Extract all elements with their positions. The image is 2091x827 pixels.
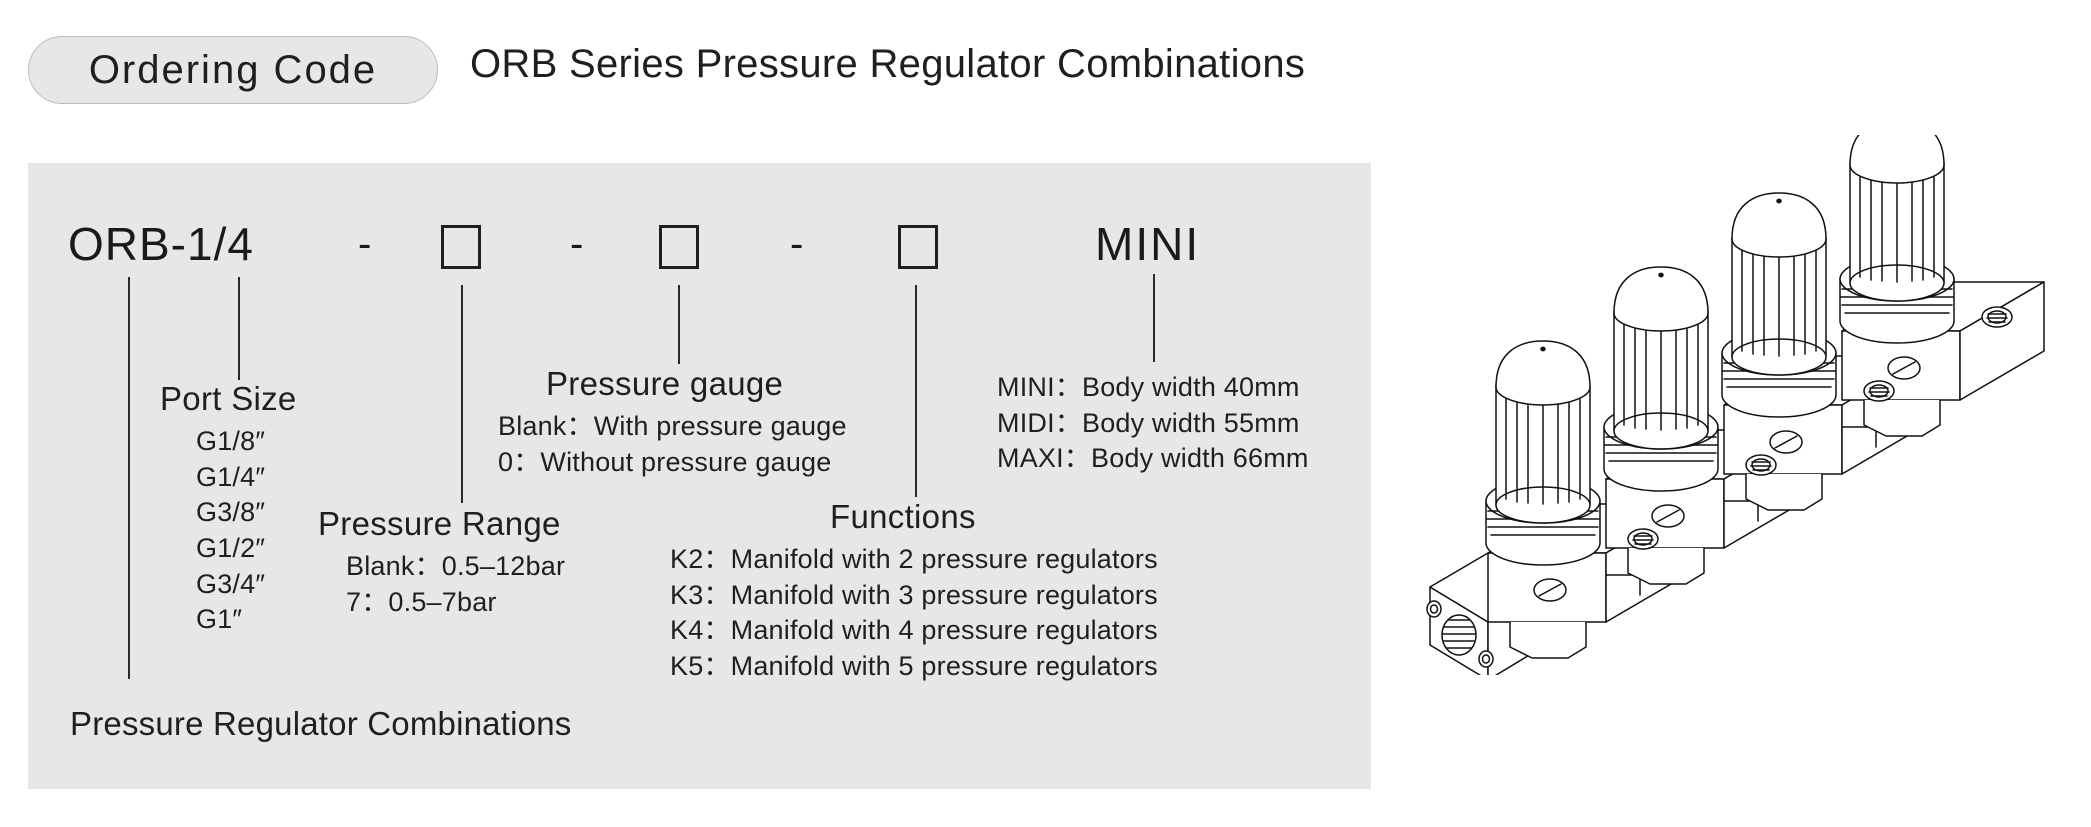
leader-line-pressure-range <box>461 285 463 503</box>
pressure-gauge-item: Blank：With pressure gauge <box>498 409 847 445</box>
pressure-gauge-items: Blank：With pressure gauge 0：Without pres… <box>498 409 847 480</box>
pressure-range-item: Blank：0.5–12bar <box>346 549 565 585</box>
pressure-range-title: Pressure Range <box>318 505 565 543</box>
body-width-items: MINI：Body width 40mm MIDI：Body width 55m… <box>997 370 1309 477</box>
port-size-item: G3/8″ <box>196 495 297 531</box>
port-size-item: G1/2″ <box>196 531 297 567</box>
annotation-body-width: MINI：Body width 40mm MIDI：Body width 55m… <box>997 370 1309 477</box>
annotation-pressure-range: Pressure Range Blank：0.5–12bar 7：0.5–7ba… <box>318 505 565 620</box>
annotation-port-size: Port Size G1/8″ G1/4″ G3/8″ G1/2″ G3/4″ … <box>160 380 297 638</box>
port-size-items: G1/8″ G1/4″ G3/8″ G1/2″ G3/4″ G1″ <box>160 424 297 638</box>
leader-line-pressure-gauge <box>678 285 680 364</box>
port-size-item: G1/8″ <box>196 424 297 460</box>
pressure-gauge-item: 0：Without pressure gauge <box>498 445 847 481</box>
code-separator-1: - <box>358 222 371 267</box>
port-size-item: G3/4″ <box>196 567 297 603</box>
regulator-unit-2 <box>1604 267 1718 491</box>
pressure-gauge-title: Pressure gauge <box>498 365 847 403</box>
functions-item: K5：Manifold with 5 pressure regulators <box>670 649 1158 685</box>
ordering-code-badge-label: Ordering Code <box>89 48 377 93</box>
port-size-item: G1″ <box>196 602 297 638</box>
port-size-item: G1/4″ <box>196 460 297 496</box>
body-width-item: MINI：Body width 40mm <box>997 370 1309 406</box>
functions-title: Functions <box>670 498 1158 536</box>
code-box-pressure-range[interactable] <box>441 225 481 269</box>
code-segment-series: ORB-1/4 <box>68 217 254 271</box>
body-width-item: MIDI：Body width 55mm <box>997 406 1309 442</box>
page-header: Ordering Code ORB Series Pressure Regula… <box>0 0 2091 130</box>
regulator-unit-4 <box>1840 135 1954 343</box>
code-box-pressure-gauge[interactable] <box>659 225 699 269</box>
leader-line-body-width <box>1153 274 1155 362</box>
code-separator-3: - <box>790 222 803 267</box>
port-size-title: Port Size <box>160 380 297 418</box>
code-segment-body-width: MINI <box>1095 217 1200 271</box>
code-box-functions[interactable] <box>898 225 938 269</box>
ordering-code-badge: Ordering Code <box>28 36 438 104</box>
annotation-series-caption: Pressure Regulator Combinations <box>70 705 571 743</box>
product-drawing <box>1400 135 2080 675</box>
leader-line-series <box>128 277 130 679</box>
annotation-functions: Functions K2：Manifold with 2 pressure re… <box>670 498 1158 685</box>
regulator-unit-3 <box>1722 193 1836 417</box>
page-title: ORB Series Pressure Regulator Combinatio… <box>470 42 1305 87</box>
leader-line-functions <box>915 285 917 497</box>
regulator-unit-1 <box>1486 341 1600 565</box>
functions-items: K2：Manifold with 2 pressure regulators K… <box>670 542 1158 685</box>
body-width-item: MAXI：Body width 66mm <box>997 441 1309 477</box>
functions-item: K2：Manifold with 2 pressure regulators <box>670 542 1158 578</box>
ordering-code-datasheet: Ordering Code ORB Series Pressure Regula… <box>0 0 2091 827</box>
functions-item: K4：Manifold with 4 pressure regulators <box>670 613 1158 649</box>
pressure-range-item: 7：0.5–7bar <box>346 585 565 621</box>
pressure-range-items: Blank：0.5–12bar 7：0.5–7bar <box>318 549 565 620</box>
annotation-pressure-gauge: Pressure gauge Blank：With pressure gauge… <box>498 365 847 480</box>
pressure-regulator-manifold-icon <box>1400 135 2080 675</box>
code-separator-2: - <box>570 222 583 267</box>
leader-line-port-size <box>238 277 240 380</box>
functions-item: K3：Manifold with 3 pressure regulators <box>670 578 1158 614</box>
